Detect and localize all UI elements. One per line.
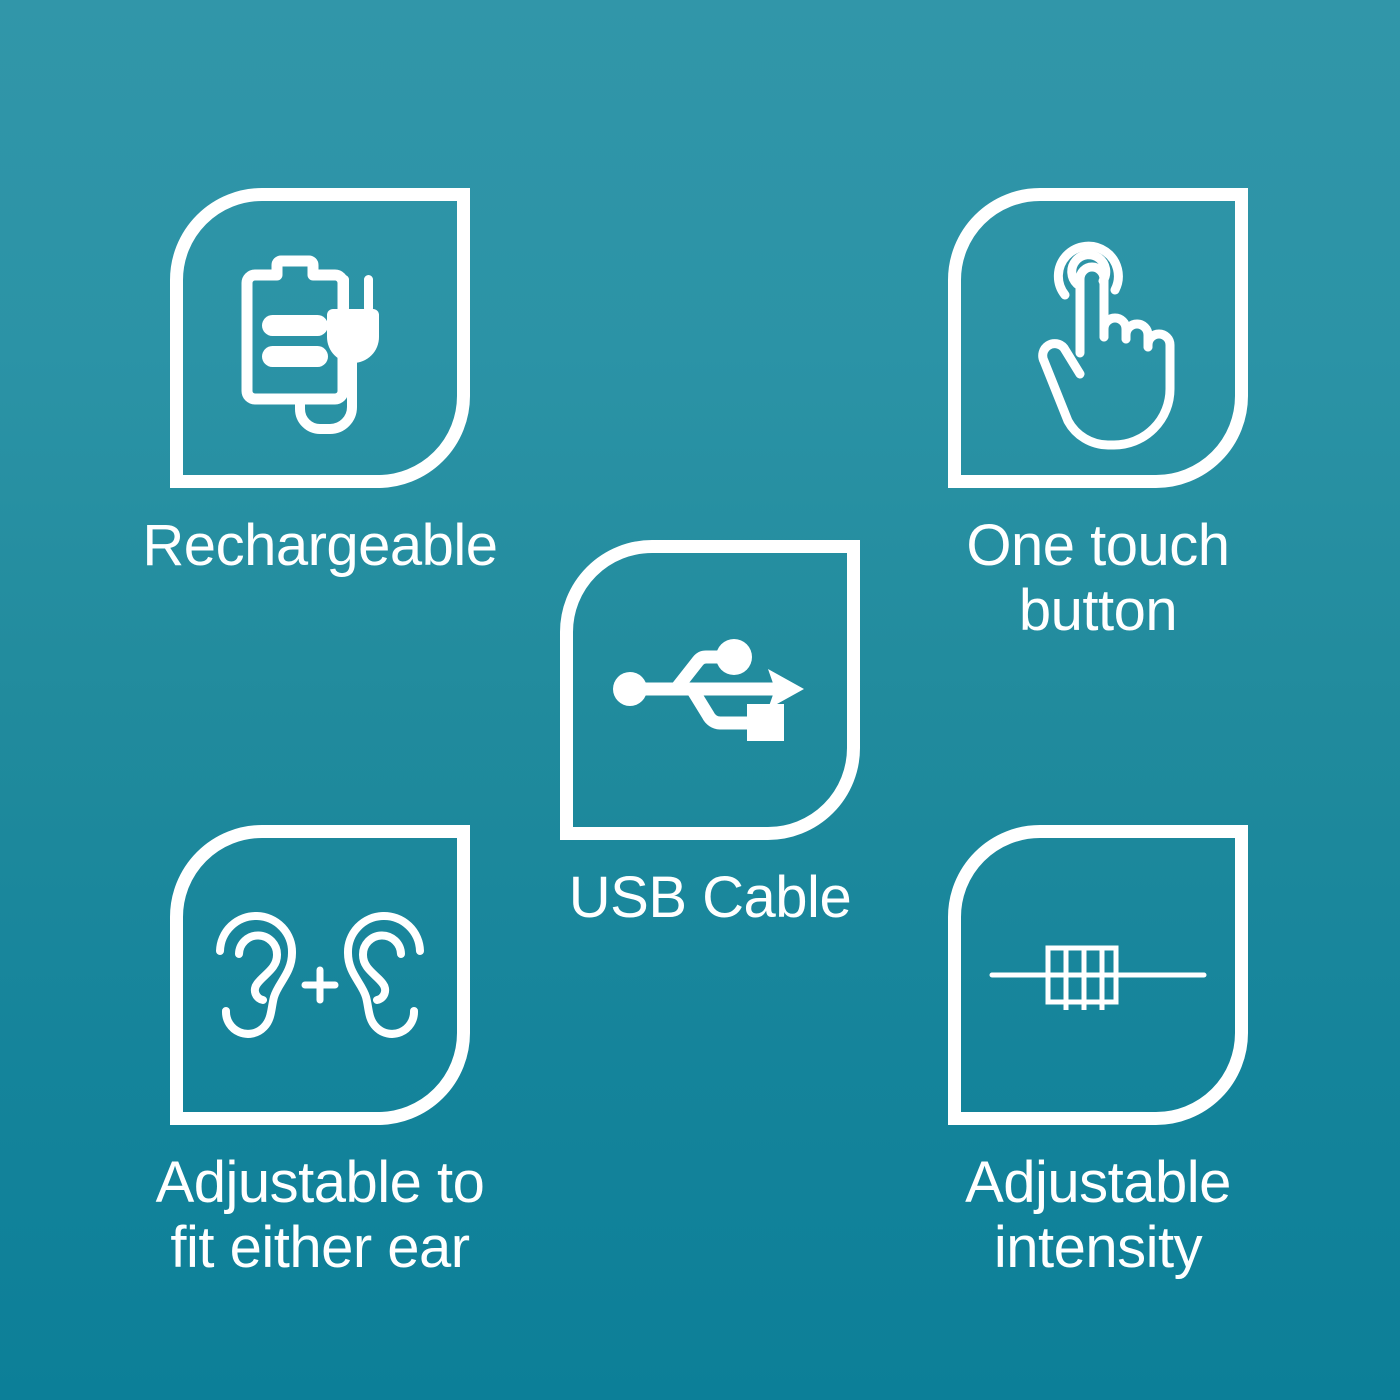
icon-frame-adjustable-either-ear [170,825,470,1125]
feature-label-adjustable-intensity: Adjustable intensity [868,1151,1328,1281]
two-ears-plus-icon [212,905,428,1045]
icon-frame-usb-cable [560,540,860,840]
feature-rechargeable: Rechargeable [170,188,470,579]
feature-adjustable-either-ear: Adjustable to fit either ear [170,825,470,1281]
feature-label-usb-cable: USB Cable [480,866,940,931]
feature-label-one-touch-button: One touch button [868,514,1328,644]
battery-charging-icon [225,253,415,423]
slider-intensity-icon [990,940,1206,1010]
feature-label-adjustable-either-ear: Adjustable to fit either ear [90,1151,550,1281]
icon-frame-one-touch-button [948,188,1248,488]
usb-trident-icon [608,625,813,755]
feature-label-rechargeable: Rechargeable [90,514,550,579]
tap-hand-icon [1018,233,1178,443]
feature-usb-cable: USB Cable [560,540,860,931]
icon-frame-rechargeable [170,188,470,488]
feature-one-touch-button: One touch button [948,188,1248,644]
feature-adjustable-intensity: Adjustable intensity [948,825,1248,1281]
icon-frame-adjustable-intensity [948,825,1248,1125]
feature-grid-graphic: Rechargeable [0,0,1400,1400]
